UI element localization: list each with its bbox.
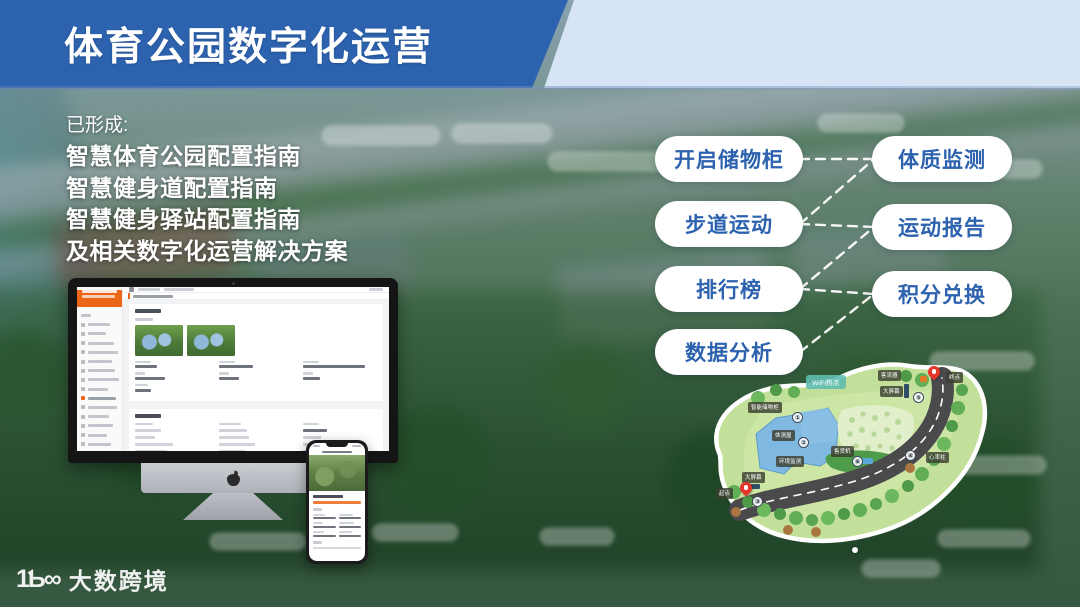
- phone-field: [339, 531, 362, 537]
- page-title: 体育公园数字化运营: [64, 16, 433, 72]
- feature-pill-label: 运动报告: [898, 212, 986, 242]
- field-row: [135, 443, 209, 446]
- field-row: [303, 429, 377, 432]
- map-marker-5[interactable]: ⑤: [913, 392, 924, 403]
- park-map-illustration: WiFi热点 智能储物柜 ① 体测屋 ② 环境监测 售货机 ⑥ 大屏幕 起点 ③…: [700, 362, 992, 558]
- phone-field: [339, 514, 362, 520]
- desktop-dashboard-screen[interactable]: [77, 287, 389, 451]
- map-screen-right: [904, 384, 909, 398]
- phone-field: [339, 522, 362, 528]
- map-label-env-monitor: 环境监测: [776, 456, 804, 467]
- phone-field: [313, 547, 361, 549]
- field-row: [219, 361, 293, 369]
- map-marker-6[interactable]: ⑥: [852, 456, 863, 467]
- card-heading: [135, 309, 161, 313]
- sidebar-item[interactable]: [77, 357, 122, 366]
- thumbnail-image[interactable]: [187, 325, 235, 356]
- field-row: [219, 423, 293, 426]
- sidebar-item[interactable]: [77, 449, 122, 451]
- sidebar-item[interactable]: [77, 421, 122, 430]
- map-label-start-point: 起点: [716, 488, 733, 499]
- header-light-panel: [544, 0, 1080, 88]
- card-thumbnail-row: [135, 325, 377, 356]
- sidebar-item[interactable]: [77, 311, 122, 320]
- feature-pill-label: 积分兑换: [898, 279, 986, 309]
- field-row: [219, 436, 293, 439]
- field-column: [135, 361, 209, 396]
- mobile-mockup: [306, 440, 368, 564]
- field-column: [303, 361, 377, 396]
- phone-notch: [326, 443, 348, 447]
- phone-body: [306, 440, 368, 564]
- feature-pill-locker[interactable]: 开启储物柜: [655, 136, 803, 182]
- field-row: [303, 423, 377, 426]
- sidebar-item[interactable]: [77, 329, 122, 338]
- feature-pill-trail-exercise[interactable]: 步道运动: [655, 201, 803, 247]
- field-row: [135, 450, 209, 451]
- sidebar-item[interactable]: [77, 430, 122, 439]
- map-label-heart-rate-pole: 心率柱: [926, 452, 949, 463]
- field-row: [135, 361, 209, 369]
- map-kiosk: [920, 376, 927, 382]
- map-pin-finish[interactable]: [928, 366, 940, 382]
- feature-pill-fitness-monitor[interactable]: 体质监测: [872, 136, 1012, 182]
- phone-field-grid: [309, 547, 365, 549]
- sidebar-item[interactable]: [77, 385, 122, 394]
- sidebar-item[interactable]: [77, 375, 122, 384]
- sidebar-item[interactable]: [77, 412, 122, 421]
- map-pin-start[interactable]: [740, 482, 752, 498]
- feature-pill-sport-report[interactable]: 运动报告: [872, 204, 1012, 250]
- dashboard-card-basic-info: [129, 304, 383, 401]
- field-row: [303, 361, 377, 369]
- sidebar-item[interactable]: [77, 366, 122, 375]
- map-marker-1[interactable]: ①: [792, 412, 803, 423]
- watermark: 1Ƅ∞ 大数跨境: [16, 562, 169, 596]
- sidebar-item[interactable]: [77, 320, 122, 329]
- map-marker-2[interactable]: ②: [798, 437, 809, 448]
- imac-chin: [141, 463, 325, 493]
- feature-pill-label: 开启储物柜: [674, 144, 784, 174]
- sidebar-item[interactable]: [77, 339, 122, 348]
- imac-bezel: [68, 278, 398, 463]
- dashboard-breadcrumb: [123, 293, 389, 300]
- map-wifi-label: WiFi热点: [806, 375, 846, 389]
- breadcrumb-marker: [128, 293, 130, 299]
- phone-field: [313, 531, 336, 537]
- header-bottom-rule: [0, 86, 1080, 90]
- field-row: [135, 384, 209, 392]
- webcam-icon: [232, 282, 235, 285]
- field-column: [219, 423, 293, 451]
- field-column: [219, 361, 293, 396]
- phone-accent-bar: [313, 501, 361, 504]
- field-row: [303, 372, 377, 380]
- apple-logo-icon: [227, 471, 240, 486]
- field-row: [135, 372, 209, 380]
- feature-pill-label: 步道运动: [685, 209, 773, 239]
- field-row: [219, 429, 293, 432]
- card-subheading: [135, 318, 153, 321]
- feature-pill-label: 排行榜: [696, 274, 762, 304]
- map-label-footfall: 客流器: [878, 370, 901, 381]
- slide-header: 体育公园数字化运营: [0, 0, 1080, 88]
- map-marker-3[interactable]: ③: [752, 496, 763, 507]
- dashboard-sidebar[interactable]: [77, 287, 123, 451]
- sidebar-item[interactable]: [77, 348, 122, 357]
- field-row: [219, 450, 293, 451]
- dashboard-nav-list: [77, 307, 122, 451]
- sidebar-item[interactable]: [77, 440, 122, 449]
- field-row: [219, 443, 293, 446]
- sidebar-item[interactable]: [77, 403, 122, 412]
- field-row: [303, 436, 377, 439]
- feature-pill-leaderboard[interactable]: 排行榜: [655, 266, 803, 312]
- map-label-finish-point: 终点: [946, 372, 963, 383]
- slide-canvas: 体育公园数字化运营 已形成: 智慧体育公园配置指南 智慧健身道配置指南 智慧健身…: [0, 0, 1080, 607]
- map-label-vending: 售货机: [831, 446, 854, 457]
- phone-field: [313, 522, 336, 528]
- map-label-fitness-test-room: 体测屋: [772, 430, 795, 441]
- phone-field-grid: [309, 514, 365, 538]
- card-field-grid: [135, 361, 377, 396]
- map-label-smart-locker: 智能储物柜: [748, 402, 782, 413]
- map-label-big-screen-right: 大屏幕: [880, 386, 903, 397]
- field-row: [135, 423, 209, 426]
- feature-pill-label: 体质监测: [898, 144, 986, 174]
- field-row: [135, 429, 209, 432]
- dashboard-main-area: [123, 287, 389, 451]
- phone-hero-image: [309, 455, 365, 491]
- brand-line: [82, 290, 117, 293]
- thumbnail-image[interactable]: [135, 325, 183, 356]
- phone-section-label: [313, 508, 322, 511]
- map-marker-4[interactable]: ④: [905, 450, 916, 461]
- card-heading: [135, 414, 161, 418]
- phone-field: [313, 514, 336, 520]
- phone-page-title: [313, 495, 343, 498]
- brand-line: [82, 295, 115, 298]
- feature-pill-points-redeem[interactable]: 积分兑换: [872, 271, 1012, 317]
- phone-screen[interactable]: [309, 443, 365, 561]
- sidebar-item-active[interactable]: [77, 394, 122, 403]
- imac-stand: [183, 493, 283, 520]
- field-row: [135, 436, 209, 439]
- dashboard-brand-block: [77, 290, 122, 307]
- field-column: [135, 423, 209, 451]
- watermark-logo-icon: 1Ƅ∞: [16, 567, 60, 592]
- field-row: [219, 372, 293, 380]
- watermark-text: 大数跨境: [69, 562, 169, 596]
- map-carousel-dot[interactable]: [852, 547, 858, 553]
- phone-section-label: [313, 541, 322, 544]
